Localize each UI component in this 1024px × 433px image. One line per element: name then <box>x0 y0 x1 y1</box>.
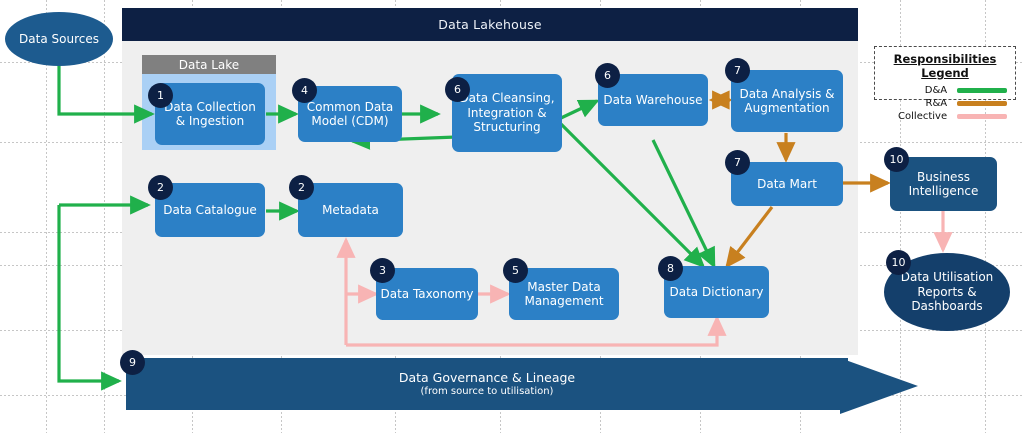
node-label: Data Taxonomy <box>381 287 474 302</box>
badge-number: 5 <box>512 264 519 277</box>
legend-row-collective: Collective <box>883 110 1007 123</box>
step-badge-10-utilisation: 10 <box>886 250 911 275</box>
node-label: Data Sources <box>19 32 99 47</box>
node-label: Data Mart <box>757 177 817 192</box>
badge-number: 2 <box>157 181 164 194</box>
badge-number: 10 <box>890 153 904 166</box>
governance-arrowhead <box>840 352 930 422</box>
node-label: Data Dictionary <box>669 285 763 300</box>
step-badge-8: 8 <box>658 256 683 281</box>
diagram-canvas: Data Lakehouse Data Lake <box>0 0 1024 433</box>
governance-subtitle: (from source to utilisation) <box>421 385 554 398</box>
badge-number: 6 <box>454 83 461 96</box>
step-badge-5: 5 <box>503 258 528 283</box>
step-badge-6-warehouse: 6 <box>595 63 620 88</box>
governance-title: Data Governance & Lineage <box>399 370 575 385</box>
badge-number: 6 <box>604 69 611 82</box>
node-metadata[interactable]: Metadata <box>298 183 403 237</box>
node-label: Data Utilisation Reports & Dashboards <box>884 270 1010 314</box>
legend-label: Collective <box>883 111 957 122</box>
step-badge-6-cleansing: 6 <box>445 77 470 102</box>
node-data-analysis-augmentation[interactable]: Data Analysis & Augmentation <box>731 70 843 132</box>
badge-number: 8 <box>667 262 674 275</box>
node-label: Common Data Model (CDM) <box>302 100 398 129</box>
node-data-sources[interactable]: Data Sources <box>5 12 113 66</box>
step-badge-7-analysis: 7 <box>725 58 750 83</box>
badge-number: 3 <box>379 264 386 277</box>
badge-number: 7 <box>734 156 741 169</box>
legend-row-ra: R&A <box>883 97 1007 110</box>
legend-label: D&A <box>883 85 957 96</box>
step-badge-2-catalogue: 2 <box>148 175 173 200</box>
node-label: Business Intelligence <box>894 170 993 199</box>
node-label: Metadata <box>322 203 379 218</box>
legend-swatch-ra <box>957 101 1007 106</box>
badge-number: 10 <box>892 256 906 269</box>
badge-number: 2 <box>298 181 305 194</box>
step-badge-7-mart: 7 <box>725 150 750 175</box>
step-badge-4: 4 <box>292 78 317 103</box>
node-label: Data Analysis & Augmentation <box>735 87 839 116</box>
badge-number: 4 <box>301 84 308 97</box>
governance-bar[interactable]: Data Governance & Lineage (from source t… <box>126 358 848 410</box>
node-label: Data Catalogue <box>163 203 257 218</box>
node-label: Master Data Management <box>513 280 615 309</box>
node-label: Data Warehouse <box>603 93 702 108</box>
legend-swatch-da <box>957 88 1007 93</box>
step-badge-3: 3 <box>370 258 395 283</box>
responsibilities-legend: Responsibilities Legend D&A R&A Collecti… <box>874 46 1016 100</box>
legend-swatch-collective <box>957 114 1007 119</box>
badge-number: 1 <box>157 89 164 102</box>
legend-label: R&A <box>883 98 957 109</box>
step-badge-2-metadata: 2 <box>289 175 314 200</box>
node-label: Data Cleansing, Integration & Structurin… <box>456 91 558 135</box>
legend-title: Responsibilities Legend <box>883 52 1007 80</box>
badge-number: 7 <box>734 64 741 77</box>
step-badge-9: 9 <box>120 350 145 375</box>
badge-number: 9 <box>129 356 136 369</box>
step-badge-10-bi: 10 <box>884 147 909 172</box>
step-badge-1: 1 <box>148 83 173 108</box>
node-label: Data Collection & Ingestion <box>159 100 261 129</box>
legend-row-da: D&A <box>883 84 1007 97</box>
